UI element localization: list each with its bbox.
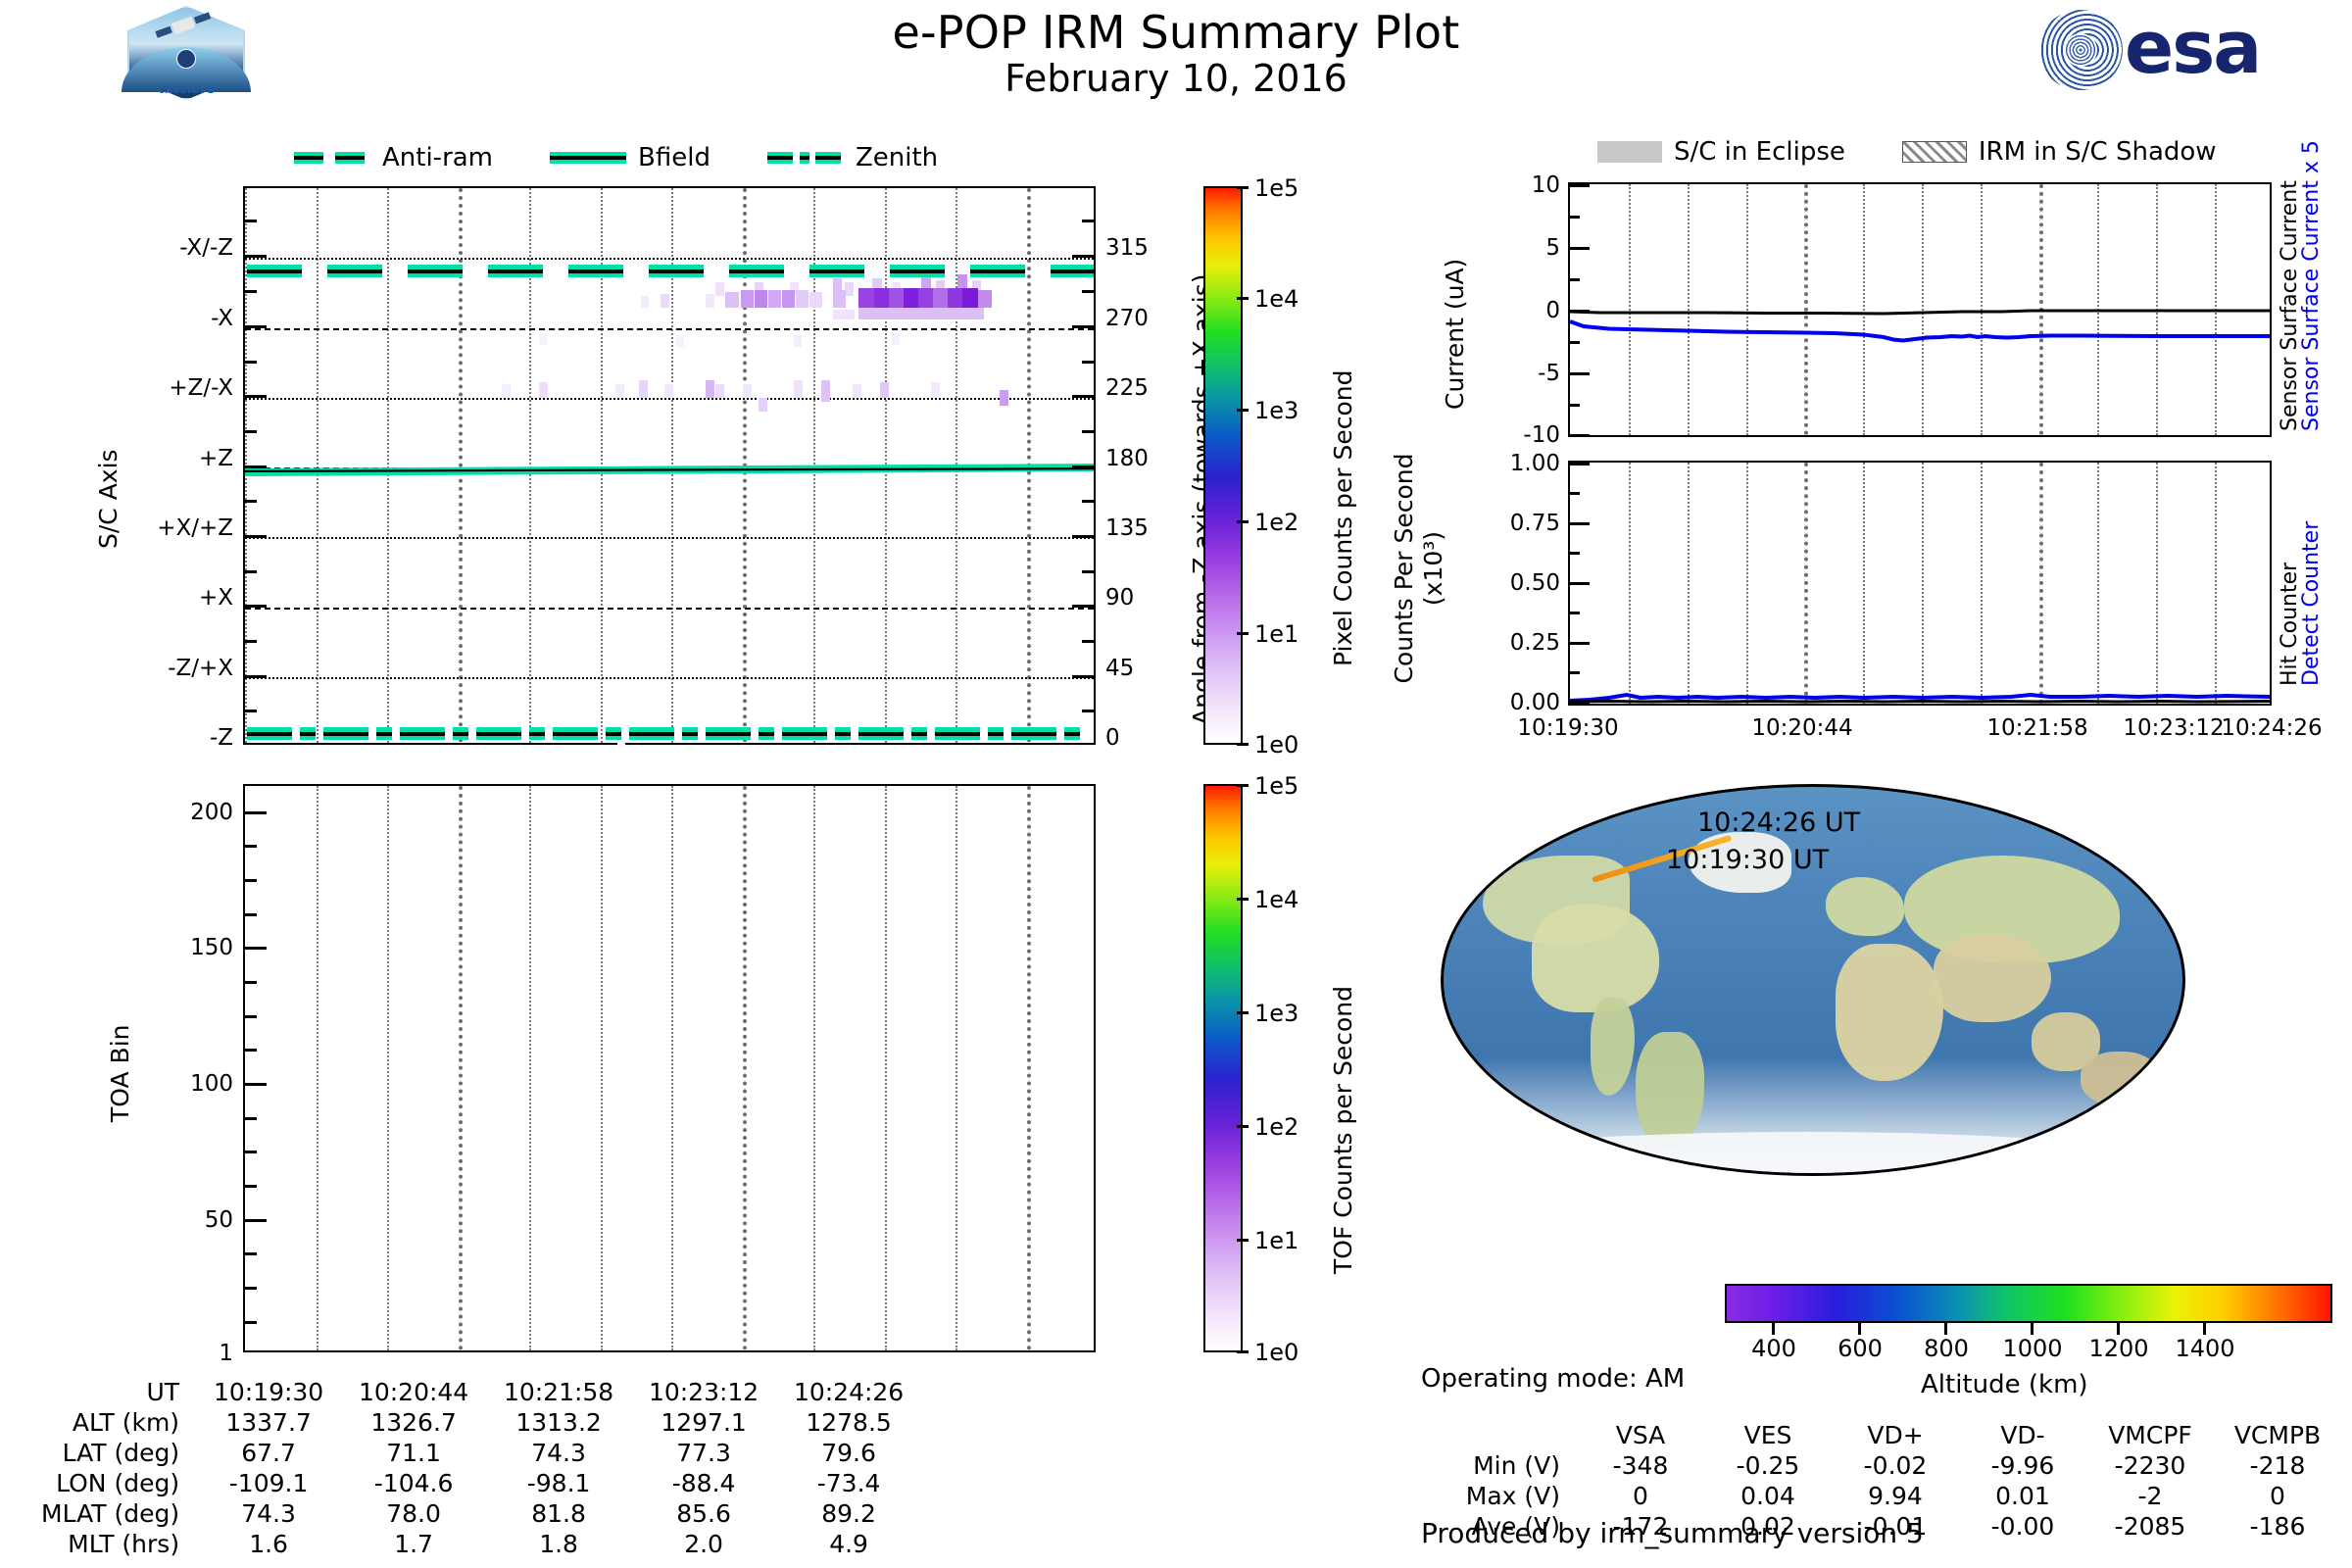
toa-ytick-200: 200 bbox=[147, 800, 233, 825]
alt-tick-1200: 1200 bbox=[2078, 1335, 2160, 1362]
ytick-label-4: +X/+Z bbox=[125, 515, 233, 541]
row-label-alt: ALT (km) bbox=[41, 1408, 195, 1437]
legend-item-sc-eclipse: S/C in Eclipse bbox=[1597, 137, 1845, 167]
rt-xtick-0: 10:19:30 bbox=[1478, 715, 1658, 741]
produced-by-footer: Produced by irm_summary version 5 bbox=[1421, 1517, 1924, 1549]
lat-c4: 79.6 bbox=[777, 1439, 920, 1467]
mlt-c1: 1.7 bbox=[342, 1530, 485, 1558]
legend-item-irm-shadow: IRM in S/C Shadow bbox=[1902, 137, 2217, 167]
tof-colorbar-tick-1e5: 1e5 bbox=[1254, 772, 1298, 800]
altitude-colorbar-title: Altitude (km) bbox=[1921, 1370, 2088, 1399]
tof-counts-colorbar[interactable] bbox=[1203, 784, 1243, 1352]
ytick-label-1: -X bbox=[155, 306, 233, 331]
counts-right-label-blue: Detect Counter bbox=[2299, 521, 2324, 686]
max-vcmpb: 0 bbox=[2215, 1482, 2340, 1510]
operating-mode-status: Operating mode: AM bbox=[1421, 1364, 1685, 1394]
lat-c1: 71.1 bbox=[342, 1439, 485, 1467]
mlat-c1: 78.0 bbox=[342, 1499, 485, 1528]
rt-xtick-4: 10:24:26 bbox=[2181, 715, 2352, 741]
right-tick-label-2: 225 bbox=[1105, 375, 1149, 401]
mlat-c0: 74.3 bbox=[197, 1499, 340, 1528]
max-vmcpf: -2 bbox=[2087, 1482, 2213, 1510]
alt-c2: 1313.2 bbox=[487, 1408, 630, 1437]
legend-item-anti-ram: Anti-ram bbox=[294, 143, 493, 172]
counts-traces bbox=[1570, 463, 2270, 704]
anti-ram-trace bbox=[245, 265, 1094, 277]
lon-c4: -73.4 bbox=[777, 1469, 920, 1497]
legend-label-sc-eclipse: S/C in Eclipse bbox=[1674, 137, 1845, 167]
row-label-mlt: MLT (hrs) bbox=[41, 1530, 195, 1558]
table-row: MLAT (deg) 74.3 78.0 81.8 85.6 89.2 bbox=[41, 1499, 920, 1528]
right-tick-label-4: 135 bbox=[1105, 515, 1149, 541]
max-vsa: 0 bbox=[1578, 1482, 1703, 1510]
alt-c3: 1297.1 bbox=[632, 1408, 775, 1437]
rt-xtick-1: 10:20:44 bbox=[1712, 715, 1892, 741]
ytick-label-7: -Z bbox=[155, 725, 233, 751]
col-vcmpb: VCMPB bbox=[2215, 1421, 2340, 1449]
row-label-min: Min (V) bbox=[1423, 1451, 1576, 1480]
row-label-lon: LON (deg) bbox=[41, 1469, 195, 1497]
ut-c1: 10:20:44 bbox=[342, 1378, 485, 1406]
toa-ytick-100: 100 bbox=[147, 1071, 233, 1097]
col-vdplus: VD+ bbox=[1833, 1421, 1958, 1449]
ut-c4: 10:24:26 bbox=[777, 1378, 920, 1406]
tof-colorbar-tick-1e0: 1e0 bbox=[1254, 1339, 1298, 1366]
col-vmcpf: VMCPF bbox=[2087, 1421, 2213, 1449]
current-ytick-0: 0 bbox=[1478, 298, 1560, 323]
tof-colorbar-tick-1e4: 1e4 bbox=[1254, 886, 1298, 913]
table-row: LON (deg) -109.1 -104.6 -98.1 -88.4 -73.… bbox=[41, 1469, 920, 1497]
table-header-row: VSA VES VD+ VD- VMCPF VCMPB bbox=[1423, 1421, 2340, 1449]
esa-logo-icon: esa bbox=[2038, 8, 2332, 92]
mission-patch-label: CASSIOPE bbox=[127, 86, 245, 96]
ytick-label-3: +Z bbox=[155, 446, 233, 471]
cassiope-mission-patch-icon: CASSIOPE bbox=[127, 6, 245, 100]
max-vdminus: 0.01 bbox=[1960, 1482, 2085, 1510]
colorbar-tick-1e1: 1e1 bbox=[1254, 620, 1298, 648]
toa-y-axis-title: TOA Bin bbox=[106, 1025, 134, 1123]
esa-wordmark: esa bbox=[2125, 6, 2260, 90]
legend-label-irm-shadow: IRM in S/C Shadow bbox=[1979, 137, 2217, 167]
legend-label-anti-ram: Anti-ram bbox=[382, 143, 493, 172]
max-ves: 0.04 bbox=[1705, 1482, 1831, 1510]
ytick-label-2: +Z/-X bbox=[135, 375, 233, 401]
mlt-c4: 4.9 bbox=[777, 1530, 920, 1558]
pixel-counts-colorbar-title: Pixel Counts per Second bbox=[1329, 370, 1357, 666]
orientation-y-axis-title: S/C Axis bbox=[94, 449, 122, 549]
mlat-c4: 89.2 bbox=[777, 1499, 920, 1528]
ytick-label-6: -Z/+X bbox=[125, 656, 233, 681]
row-label-max: Max (V) bbox=[1423, 1482, 1576, 1510]
toa-ytick-50: 50 bbox=[147, 1207, 233, 1233]
altitude-colorbar[interactable] bbox=[1725, 1284, 2332, 1323]
lon-c1: -104.6 bbox=[342, 1469, 485, 1497]
legend-label-zenith: Zenith bbox=[856, 143, 938, 172]
counts-right-label-black: Hit Counter bbox=[2278, 563, 2302, 686]
mlt-c2: 1.8 bbox=[487, 1530, 630, 1558]
toa-heatmap-plot[interactable] bbox=[243, 784, 1096, 1352]
col-ves: VES bbox=[1705, 1421, 1831, 1449]
alt-c4: 1278.5 bbox=[777, 1408, 920, 1437]
alt-tick-400: 400 bbox=[1733, 1335, 1815, 1362]
track-end-label: 10:24:26 UT bbox=[1697, 808, 1860, 838]
orientation-heatmap-plot[interactable] bbox=[243, 186, 1096, 745]
lon-c2: -98.1 bbox=[487, 1469, 630, 1497]
row-label-mlat: MLAT (deg) bbox=[41, 1499, 195, 1528]
alt-tick-1400: 1400 bbox=[2164, 1335, 2246, 1362]
legend-item-zenith: Zenith bbox=[767, 143, 938, 172]
min-vdplus: -0.02 bbox=[1833, 1451, 1958, 1480]
tof-colorbar-tick-1e2: 1e2 bbox=[1254, 1113, 1298, 1141]
legend-label-bfield: Bfield bbox=[638, 143, 710, 172]
zenith-trace bbox=[245, 727, 1094, 740]
mlat-c2: 81.8 bbox=[487, 1499, 630, 1528]
colorbar-tick-1e4: 1e4 bbox=[1254, 285, 1298, 313]
ground-track-map[interactable]: 10:24:26 UT 10:19:30 UT bbox=[1441, 784, 2185, 1176]
mlt-c0: 1.6 bbox=[197, 1530, 340, 1558]
col-vsa: VSA bbox=[1578, 1421, 1703, 1449]
lat-c0: 67.7 bbox=[197, 1439, 340, 1467]
pixel-counts-colorbar[interactable] bbox=[1203, 186, 1243, 745]
right-tick-label-1: 270 bbox=[1105, 306, 1149, 331]
alt-tick-1000: 1000 bbox=[1991, 1335, 2074, 1362]
ytick-label-5: +X bbox=[155, 585, 233, 611]
toa-ytick-1: 1 bbox=[147, 1341, 233, 1366]
orientation-legend: Anti-ram Bfield Zenith bbox=[294, 143, 983, 172]
row-label-ut: UT bbox=[41, 1378, 195, 1406]
current-right-label-black: Sensor Surface Current bbox=[2278, 180, 2302, 431]
lon-c0: -109.1 bbox=[197, 1469, 340, 1497]
track-start-label: 10:19:30 UT bbox=[1666, 845, 1829, 875]
min-vsa: -348 bbox=[1578, 1451, 1703, 1480]
tof-colorbar-tick-1e3: 1e3 bbox=[1254, 1000, 1298, 1027]
page-title: e-POP IRM Summary Plot bbox=[0, 6, 2352, 59]
lat-c3: 77.3 bbox=[632, 1439, 775, 1467]
solid-line-swatch-icon bbox=[550, 152, 626, 164]
current-traces bbox=[1570, 184, 2270, 435]
dashdot-line-swatch-icon bbox=[767, 152, 844, 164]
min-vdminus: -9.96 bbox=[1960, 1451, 2085, 1480]
colorbar-tick-1e2: 1e2 bbox=[1254, 509, 1298, 536]
tof-colorbar-tick-1e1: 1e1 bbox=[1254, 1227, 1298, 1254]
ave-vcmpb: -186 bbox=[2215, 1512, 2340, 1541]
right-tick-label-6: 45 bbox=[1105, 656, 1134, 681]
right-tick-label-7: 0 bbox=[1105, 725, 1120, 751]
dashed-line-swatch-icon bbox=[294, 152, 370, 164]
right-tick-label-0: 315 bbox=[1105, 235, 1149, 261]
gray-fill-swatch-icon bbox=[1597, 141, 1662, 163]
current-ytick-neg5: -5 bbox=[1478, 361, 1560, 386]
max-vdplus: 9.94 bbox=[1833, 1482, 1958, 1510]
row-label-lat: LAT (deg) bbox=[41, 1439, 195, 1467]
colorbar-tick-1e3: 1e3 bbox=[1254, 397, 1298, 424]
table-row: ALT (km) 1337.7 1326.7 1313.2 1297.1 127… bbox=[41, 1408, 920, 1437]
toa-ytick-150: 150 bbox=[147, 935, 233, 960]
lat-c2: 74.3 bbox=[487, 1439, 630, 1467]
page-subtitle: February 10, 2016 bbox=[0, 57, 2352, 100]
legend-item-bfield: Bfield bbox=[550, 143, 710, 172]
world-map-image bbox=[1441, 784, 2185, 1176]
table-row: LAT (deg) 67.7 71.1 74.3 77.3 79.6 bbox=[41, 1439, 920, 1467]
current-ytick-5: 5 bbox=[1478, 235, 1560, 261]
table-row: Max (V) 0 0.04 9.94 0.01 -2 0 bbox=[1423, 1482, 2340, 1510]
table-row: UT 10:19:30 10:20:44 10:21:58 10:23:12 1… bbox=[41, 1378, 920, 1406]
ephemeris-table: UT 10:19:30 10:20:44 10:21:58 10:23:12 1… bbox=[39, 1376, 922, 1560]
current-y-axis-title: Current (uA) bbox=[1441, 259, 1469, 410]
colorbar-tick-1e0: 1e0 bbox=[1254, 731, 1298, 759]
ave-vmcpf: -2085 bbox=[2087, 1512, 2213, 1541]
tof-counts-colorbar-title: TOF Counts per Second bbox=[1329, 986, 1357, 1274]
alt-c1: 1326.7 bbox=[342, 1408, 485, 1437]
ut-c3: 10:23:12 bbox=[632, 1378, 775, 1406]
colorbar-tick-1e5: 1e5 bbox=[1254, 174, 1298, 202]
table-row: MLT (hrs) 1.6 1.7 1.8 2.0 4.9 bbox=[41, 1530, 920, 1558]
col-vdminus: VD- bbox=[1960, 1421, 2085, 1449]
hatched-fill-swatch-icon bbox=[1902, 141, 1967, 163]
min-vmcpf: -2230 bbox=[2087, 1451, 2213, 1480]
ave-vdminus: -0.00 bbox=[1960, 1512, 2085, 1541]
mlt-c3: 2.0 bbox=[632, 1530, 775, 1558]
current-ytick-neg10: -10 bbox=[1478, 422, 1560, 448]
counts-y-axis-title: Counts Per Second (x10³) bbox=[1390, 441, 1448, 696]
ytick-label-0: -X/-Z bbox=[155, 235, 233, 261]
right-tick-label-3: 180 bbox=[1105, 446, 1149, 471]
table-row: Min (V) -348 -0.25 -0.02 -9.96 -2230 -21… bbox=[1423, 1451, 2340, 1480]
current-ytick-10: 10 bbox=[1478, 172, 1560, 198]
alt-tick-600: 600 bbox=[1819, 1335, 1901, 1362]
mlat-c3: 85.6 bbox=[632, 1499, 775, 1528]
alt-tick-800: 800 bbox=[1905, 1335, 1987, 1362]
lon-c3: -88.4 bbox=[632, 1469, 775, 1497]
right-tick-label-5: 90 bbox=[1105, 585, 1134, 611]
min-vcmpb: -218 bbox=[2215, 1451, 2340, 1480]
ut-c2: 10:21:58 bbox=[487, 1378, 630, 1406]
bfield-trace bbox=[245, 464, 1094, 476]
current-plot[interactable] bbox=[1568, 182, 2272, 437]
alt-c0: 1337.7 bbox=[197, 1408, 340, 1437]
counts-plot[interactable] bbox=[1568, 461, 2272, 706]
current-right-label-blue: Sensor Surface Current x 5 bbox=[2299, 140, 2324, 431]
ut-c0: 10:19:30 bbox=[197, 1378, 340, 1406]
eclipse-shadow-legend: S/C in Eclipse IRM in S/C Shadow bbox=[1597, 137, 2262, 167]
min-ves: -0.25 bbox=[1705, 1451, 1831, 1480]
